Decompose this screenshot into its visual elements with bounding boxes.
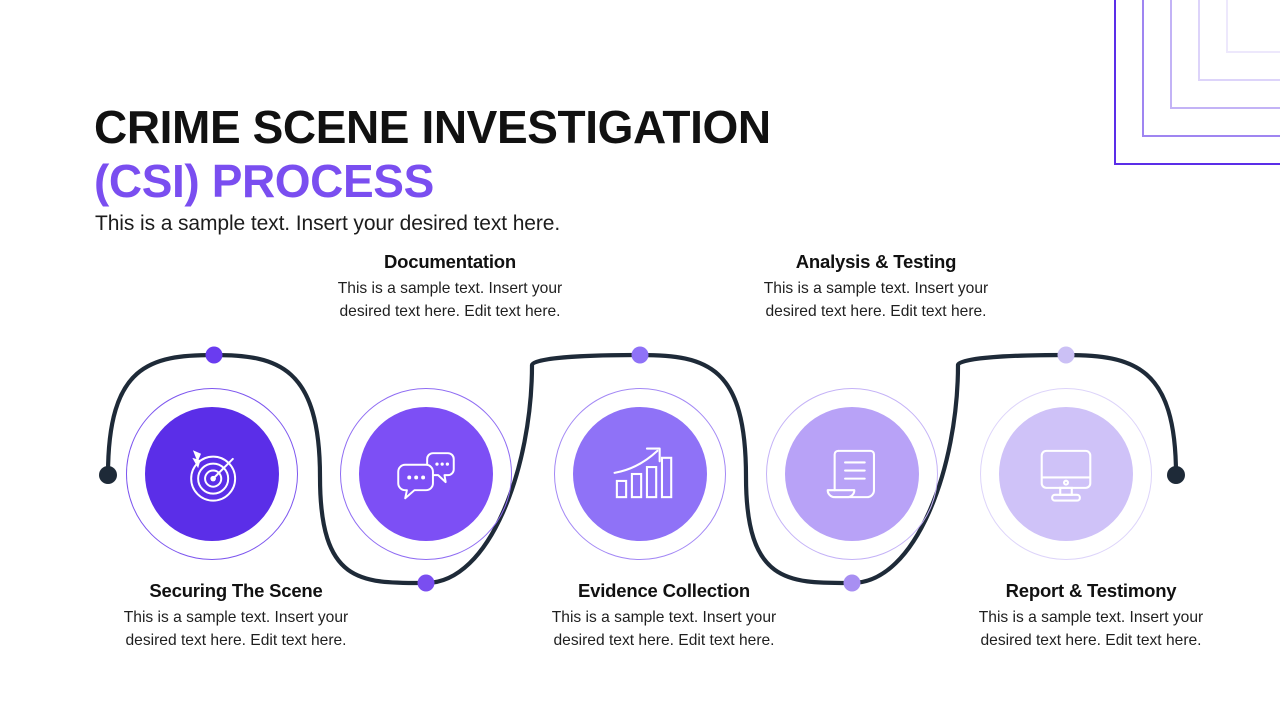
step-1-desc: This is a sample text. Insert your desir… xyxy=(111,607,361,652)
step-2-disc xyxy=(359,407,493,541)
step-3-disc xyxy=(573,407,707,541)
step-5-desc: This is a sample text. Insert your desir… xyxy=(966,607,1216,652)
desktop-monitor-icon xyxy=(1029,437,1103,511)
title-line-1: CRIME SCENE INVESTIGATION xyxy=(94,101,771,153)
process-diagram: Securing The Scene This is a sample text… xyxy=(0,255,1280,715)
bar-chart-growth-icon xyxy=(603,437,677,511)
step-3-desc: This is a sample text. Insert your desir… xyxy=(539,607,789,652)
step-4-text: Analysis & Testing This is a sample text… xyxy=(751,251,1001,323)
step-4-desc: This is a sample text. Insert your desir… xyxy=(751,278,1001,323)
step-4-circle xyxy=(766,388,938,560)
step-5-disc xyxy=(999,407,1133,541)
wave-node-dot-1 xyxy=(206,347,223,364)
corner-frame-2 xyxy=(1142,0,1280,137)
step-1-disc xyxy=(145,407,279,541)
title-line-2: (CSI) PROCESS xyxy=(94,154,994,208)
page-title: CRIME SCENE INVESTIGATION (CSI) PROCESS xyxy=(94,100,994,208)
wave-start-dot xyxy=(99,466,117,484)
target-arrow-icon xyxy=(175,437,249,511)
corner-frame-1 xyxy=(1114,0,1280,165)
step-2-text: Documentation This is a sample text. Ins… xyxy=(325,251,575,323)
step-4-title: Analysis & Testing xyxy=(751,251,1001,273)
step-1-circle xyxy=(126,388,298,560)
wave-end-dot xyxy=(1167,466,1185,484)
step-3-circle xyxy=(554,388,726,560)
corner-frame-5 xyxy=(1226,0,1280,53)
step-2-title: Documentation xyxy=(325,251,575,273)
page-subtitle: This is a sample text. Insert your desir… xyxy=(95,212,560,236)
corner-frame-4 xyxy=(1198,0,1280,81)
wave-node-dot-5 xyxy=(1058,347,1075,364)
step-5-text: Report & Testimony This is a sample text… xyxy=(966,580,1216,652)
slide-canvas: CRIME SCENE INVESTIGATION (CSI) PROCESS … xyxy=(0,0,1280,720)
step-2-circle xyxy=(340,388,512,560)
wave-node-dot-4 xyxy=(844,575,861,592)
step-1-title: Securing The Scene xyxy=(111,580,361,602)
corner-frame-3 xyxy=(1170,0,1280,109)
wave-node-dot-2 xyxy=(418,575,435,592)
step-4-disc xyxy=(785,407,919,541)
step-1-text: Securing The Scene This is a sample text… xyxy=(111,580,361,652)
wave-node-dot-3 xyxy=(632,347,649,364)
document-scroll-icon xyxy=(815,437,889,511)
step-5-circle xyxy=(980,388,1152,560)
step-2-desc: This is a sample text. Insert your desir… xyxy=(325,278,575,323)
corner-frame-decoration xyxy=(1100,0,1280,175)
step-5-title: Report & Testimony xyxy=(966,580,1216,602)
step-3-title: Evidence Collection xyxy=(539,580,789,602)
step-3-text: Evidence Collection This is a sample tex… xyxy=(539,580,789,652)
chat-bubbles-icon xyxy=(389,437,463,511)
